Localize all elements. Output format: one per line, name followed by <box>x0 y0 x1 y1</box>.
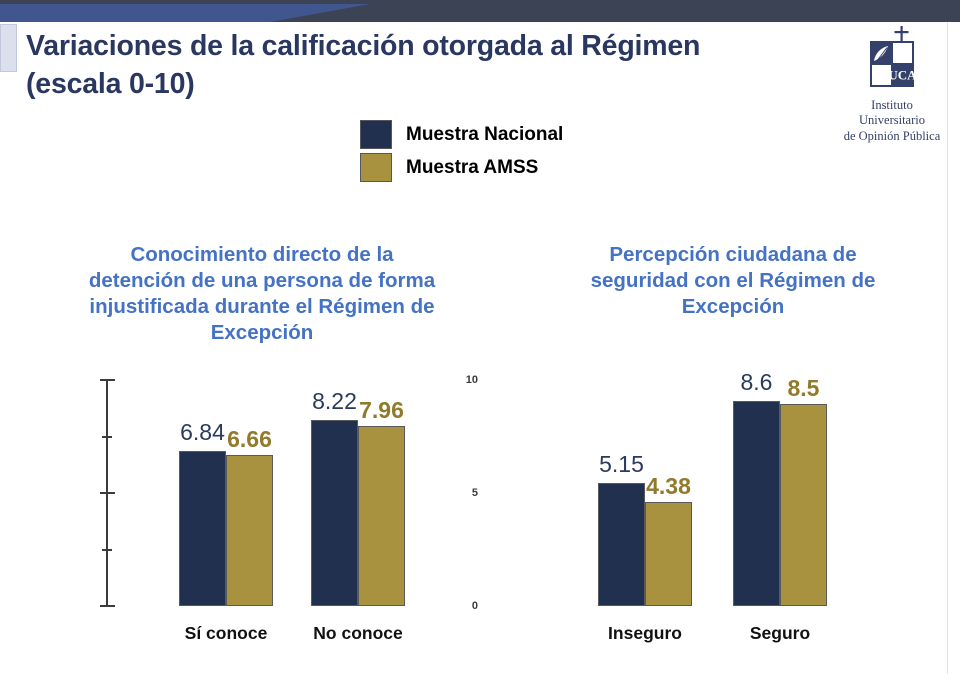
category-label-sí-conoce: Sí conoce <box>179 623 273 644</box>
chart-right-title-line-3: Excepción <box>568 294 898 320</box>
value-label-no-conoce-nacional: 8.22 <box>311 388 358 415</box>
bar-group-no-conoce: 8.227.96 <box>311 374 405 606</box>
legend-item-muestra-amss: Muestra AMSS <box>360 151 563 184</box>
value-label-seguro-amss: 8.5 <box>780 375 827 402</box>
chart-right-title-line-1: Percepción ciudadana de <box>568 242 898 268</box>
bar-inseguro-amss <box>645 502 692 606</box>
chart-right-bars: 5.154.388.68.5 <box>548 374 948 606</box>
category-label-seguro: Seguro <box>733 623 827 644</box>
value-label-inseguro-amss: 4.38 <box>645 473 692 500</box>
legend: Muestra Nacional Muestra AMSS <box>360 118 563 184</box>
bar-seguro-amss <box>780 404 827 606</box>
value-label-inseguro-nacional: 5.15 <box>598 451 645 478</box>
page-title-line-2: (escala 0-10) <box>26 66 816 104</box>
bar-group-sí-conoce: 6.846.66 <box>179 374 273 606</box>
logo-caption: Instituto Universitario de Opinión Públi… <box>838 98 946 144</box>
page-title: Variaciones de la calificación otorgada … <box>26 28 816 104</box>
logo: UCA Instituto Universitario de Opinión P… <box>838 26 946 144</box>
chart-left-title-line-4: Excepción <box>62 320 462 346</box>
legend-item-muestra-nacional: Muestra Nacional <box>360 118 563 151</box>
chart-left-title: Conocimiento directo de la detención de … <box>62 242 462 346</box>
chart-right-plot: 5.154.388.68.5 InseguroSeguro <box>548 360 948 652</box>
logo-caption-line-1: Instituto Universitario <box>838 98 946 129</box>
value-label-sí-conoce-nacional: 6.84 <box>179 419 226 446</box>
logo-caption-line-2: de Opinión Pública <box>838 129 946 144</box>
chart-right-title: Percepción ciudadana de seguridad con el… <box>568 242 898 320</box>
bar-inseguro-nacional <box>598 483 645 606</box>
svg-text:UCA: UCA <box>888 68 917 83</box>
bar-group-inseguro: 5.154.38 <box>598 374 692 606</box>
left-accent-box <box>0 24 17 72</box>
category-label-no-conoce: No conoce <box>311 623 405 644</box>
page-title-line-1: Variaciones de la calificación otorgada … <box>26 28 816 66</box>
bar-sí-conoce-nacional <box>179 451 226 606</box>
chart-left-plot: 0510 6.846.668.227.96 Sí conoceNo conoce <box>48 372 478 652</box>
legend-swatch-gold <box>360 153 392 182</box>
bar-no-conoce-amss <box>358 426 405 606</box>
bar-seguro-nacional <box>733 401 780 606</box>
chart-left-title-line-3: injustificada durante el Régimen de <box>62 294 462 320</box>
chart-percepcion-seguridad: Percepción ciudadana de seguridad con el… <box>548 242 948 652</box>
value-label-seguro-nacional: 8.6 <box>733 369 780 396</box>
bar-sí-conoce-amss <box>226 455 273 606</box>
chart-left-title-line-2: detención de una persona de forma <box>62 268 462 294</box>
bar-group-seguro: 8.68.5 <box>733 374 827 606</box>
legend-swatch-navy <box>360 120 392 149</box>
chart-left-bars: 6.846.668.227.96 <box>48 374 478 606</box>
chart-left-title-line-1: Conocimiento directo de la <box>62 242 462 268</box>
category-label-inseguro: Inseguro <box>598 623 692 644</box>
value-label-sí-conoce-amss: 6.66 <box>226 426 273 453</box>
legend-label-muestra-amss: Muestra AMSS <box>406 157 538 179</box>
legend-label-muestra-nacional: Muestra Nacional <box>406 124 563 146</box>
uca-crest-icon: UCA <box>855 26 929 96</box>
value-label-no-conoce-amss: 7.96 <box>358 397 405 424</box>
bar-no-conoce-nacional <box>311 420 358 606</box>
chart-conocimiento-directo: Conocimiento directo de la detención de … <box>48 242 478 652</box>
chart-right-title-line-2: seguridad con el Régimen de <box>568 268 898 294</box>
